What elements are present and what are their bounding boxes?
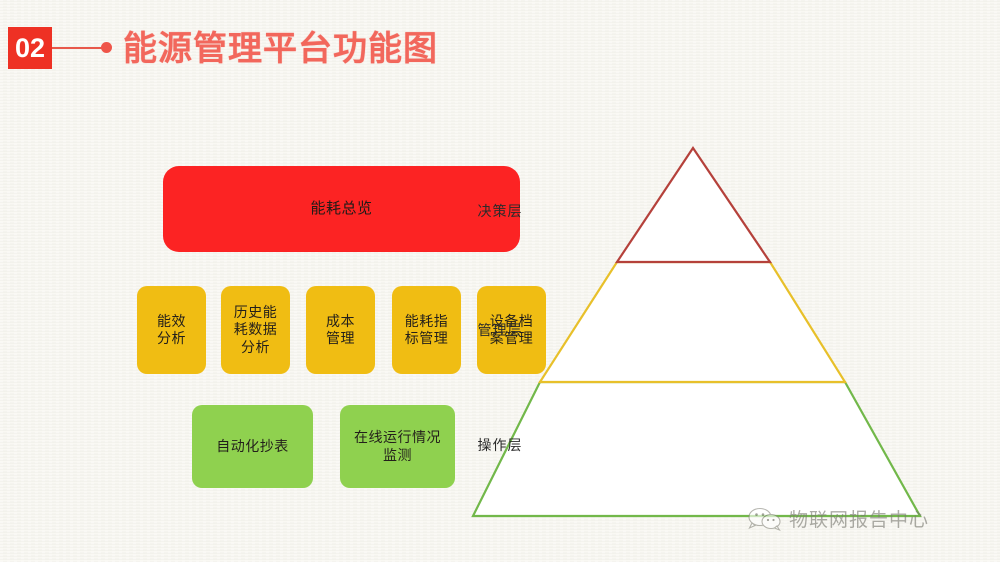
hierarchy-pyramid [0,0,1000,562]
slide-canvas: 02 能源管理平台功能图 能耗总览 能效分析 历史能耗数据分析 成本管理 能耗指… [0,0,1000,562]
pyramid-label-management: 管理层 [0,320,1000,340]
pyramid-label-decision: 决策层 [0,201,1000,221]
watermark-text: 物联网报告中心 [789,505,929,532]
pyramid-label-operation: 操作层 [0,435,1000,455]
wechat-icon [748,506,782,532]
watermark: 物联网报告中心 [748,505,929,532]
